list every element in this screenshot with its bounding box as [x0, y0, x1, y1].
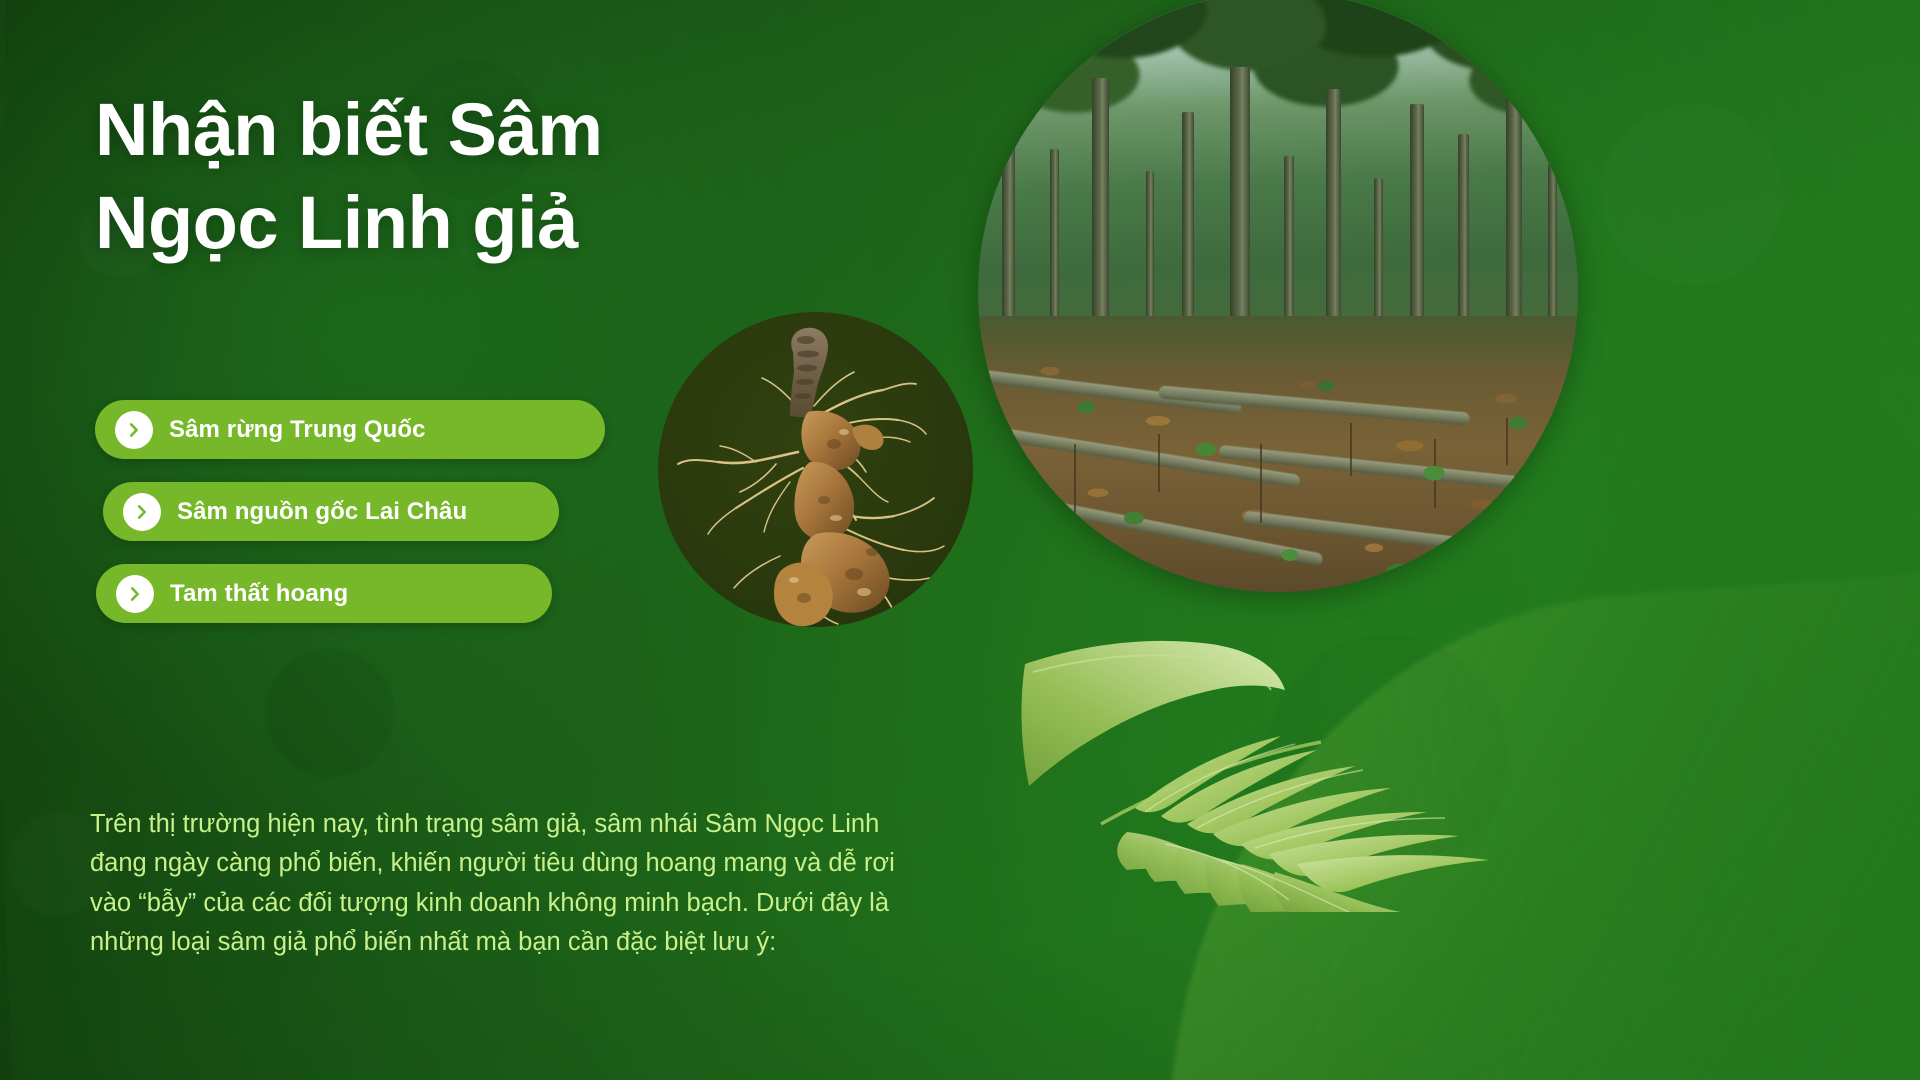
- body-paragraph-line-4: những loại sâm giả phổ biến nhất mà bạn …: [90, 923, 1035, 962]
- chevron-right-icon: [116, 575, 154, 613]
- page-title-line-2: Ngọc Linh giả: [95, 177, 855, 270]
- list-item-label: Tam thất hoang: [170, 580, 348, 608]
- poster-canvas: Nhận biết Sâm Ngọc Linh giả Sâm rừng Tru…: [0, 0, 1920, 1080]
- list-item-label: Sâm rừng Trung Quốc: [169, 416, 426, 444]
- list-item-tam-that-hoang[interactable]: Tam thất hoang: [96, 564, 552, 623]
- page-title-line-1: Nhận biết Sâm: [95, 84, 855, 177]
- page-title: Nhận biết Sâm Ngọc Linh giả: [95, 84, 855, 269]
- body-paragraph-line-3: vào “bẫy” của các đối tượng kinh doanh k…: [90, 884, 1035, 923]
- forest-plantation-photo: [978, 0, 1578, 592]
- body-paragraph: Trên thị trường hiện nay, tình trạng sâm…: [90, 805, 1035, 962]
- chevron-right-icon: [123, 493, 161, 531]
- list-item-sam-rung-trung-quoc[interactable]: Sâm rừng Trung Quốc: [95, 400, 605, 459]
- body-paragraph-line-2: đang ngày càng phổ biến, khiến người tiê…: [90, 844, 1035, 883]
- list-item-label: Sâm nguồn gốc Lai Châu: [177, 498, 467, 526]
- fake-ginseng-type-list: Sâm rừng Trung Quốc Sâm nguồn gốc Lai Ch…: [0, 400, 720, 646]
- forest-seedlings-layer: [978, 328, 1578, 592]
- body-paragraph-line-1: Trên thị trường hiện nay, tình trạng sâm…: [90, 805, 1035, 844]
- list-item-sam-nguon-goc-lai-chau[interactable]: Sâm nguồn gốc Lai Châu: [103, 482, 559, 541]
- chevron-right-icon: [115, 411, 153, 449]
